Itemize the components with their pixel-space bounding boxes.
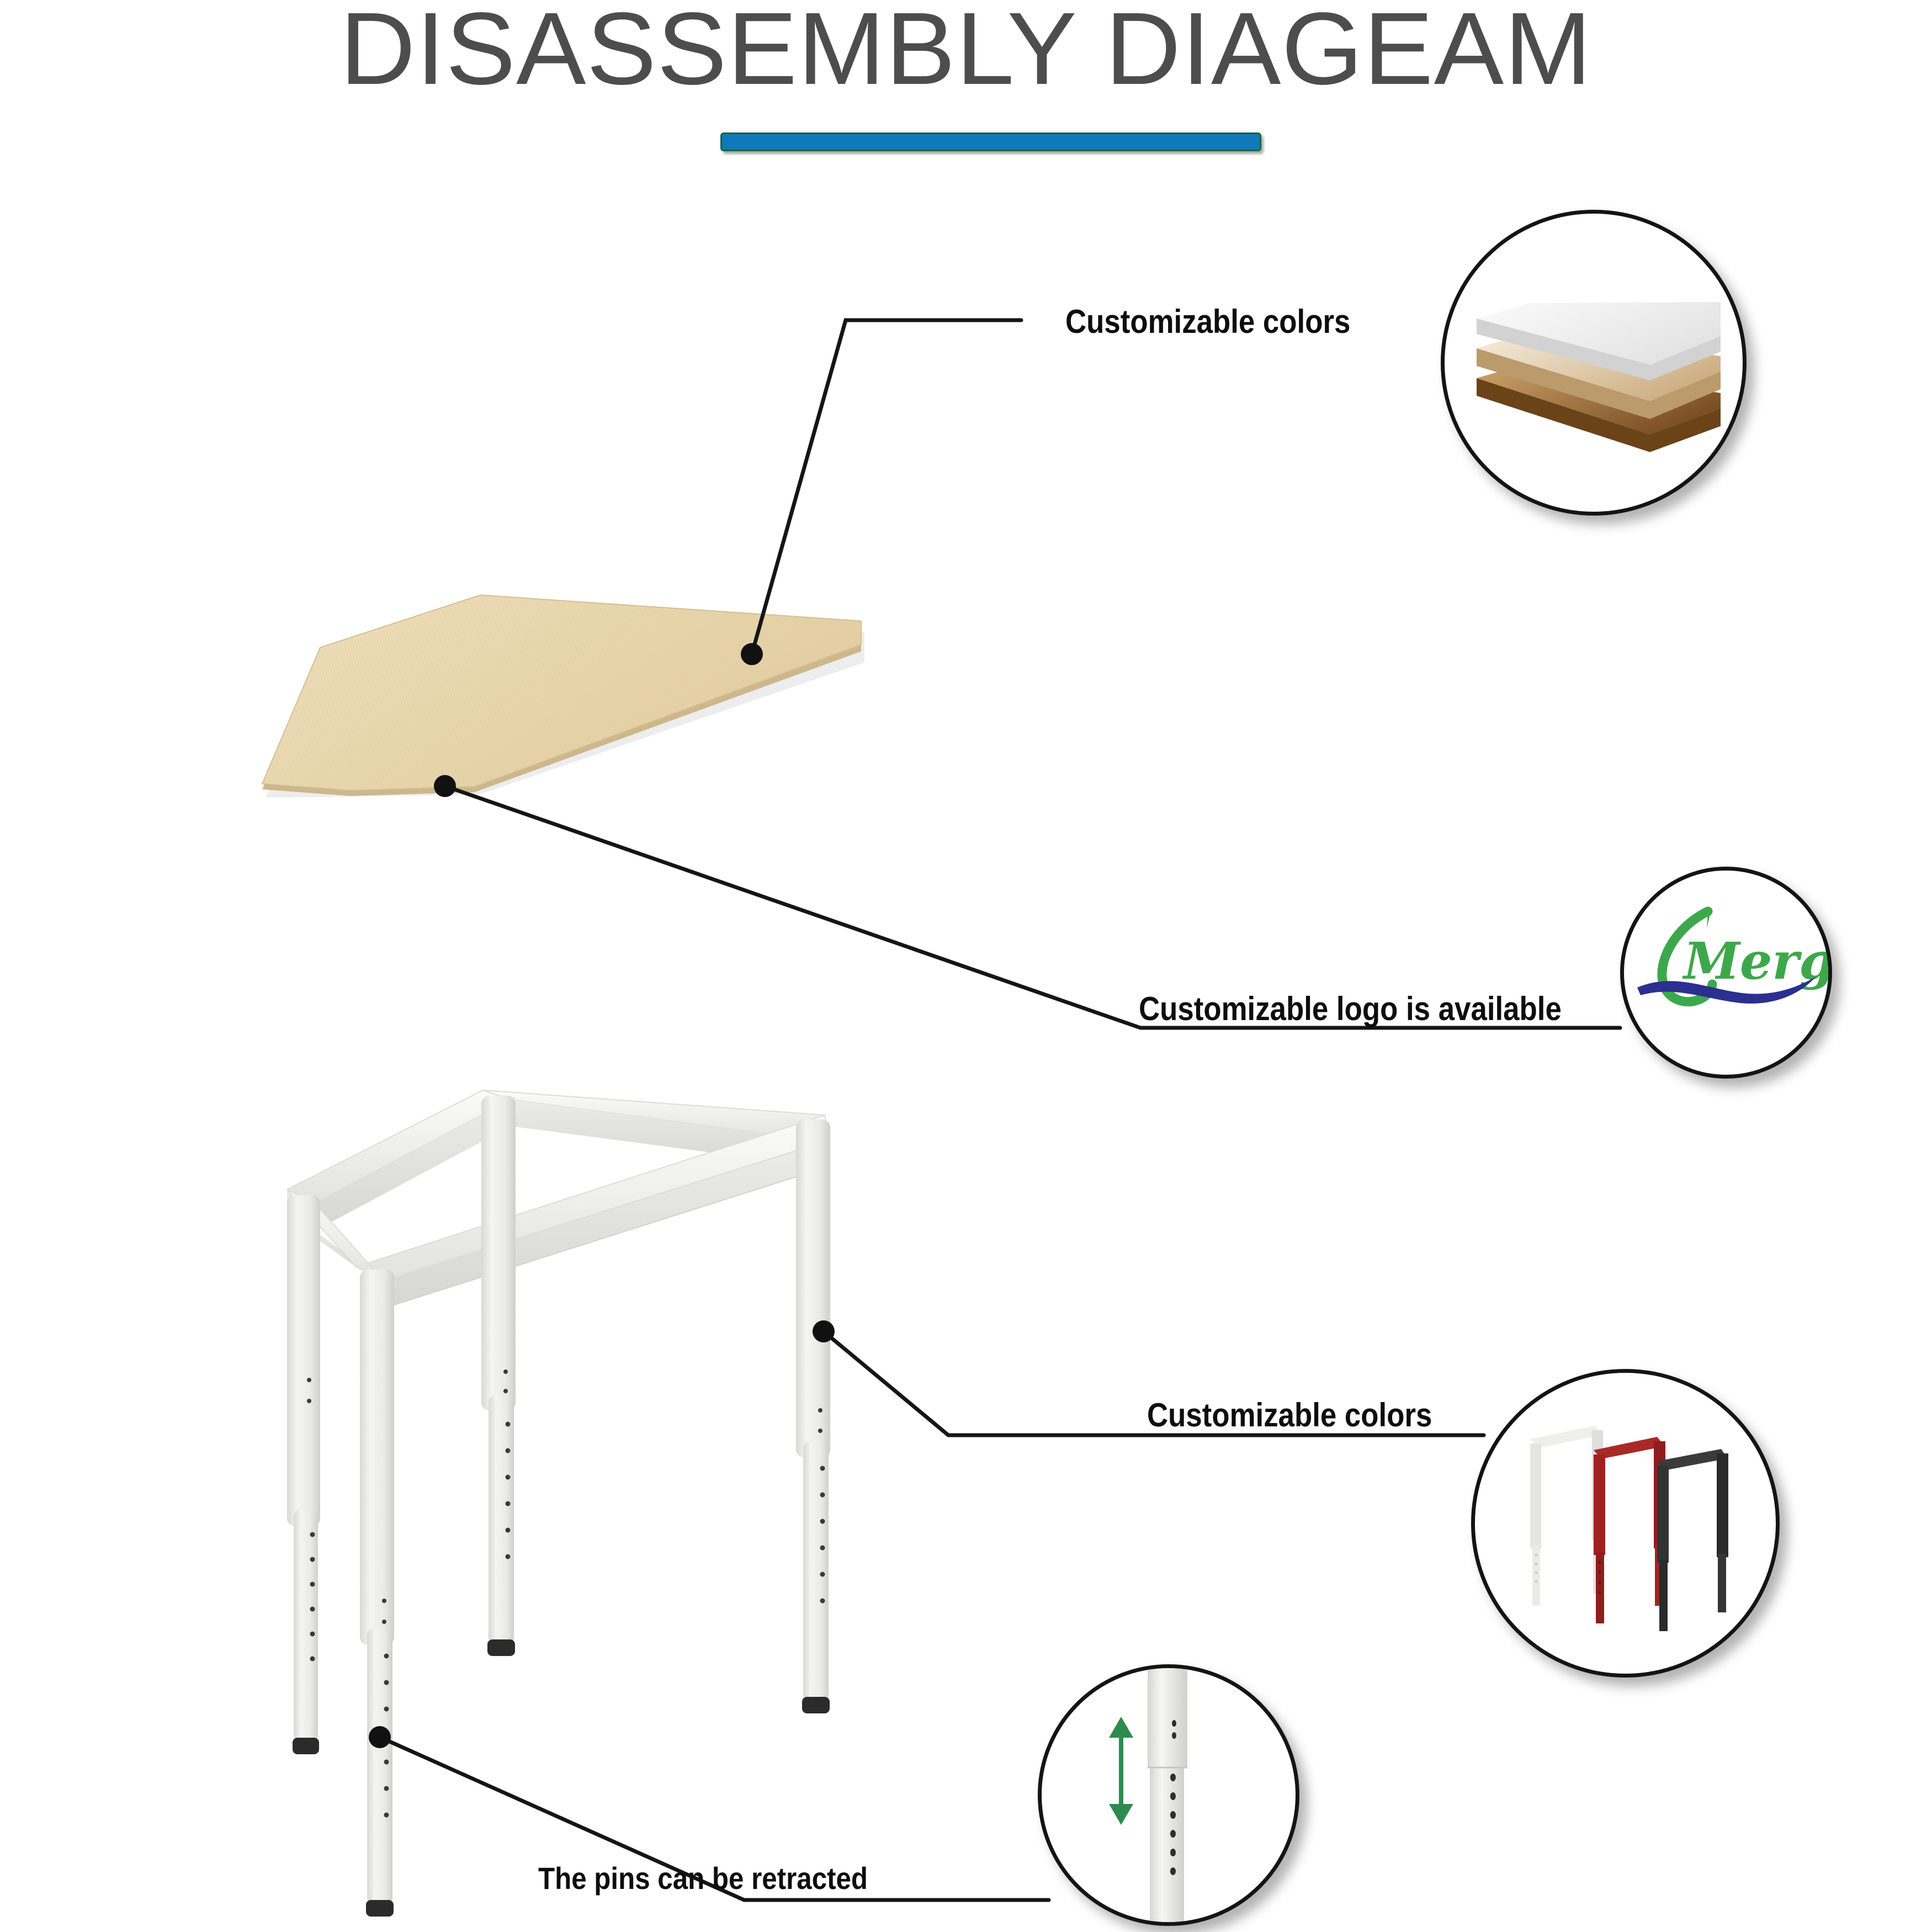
callout-label-pins: The pins can be retracted	[538, 1860, 868, 1896]
leg-frame-illustration	[232, 1049, 916, 1932]
title-accent-bar	[720, 132, 1261, 151]
leg-option-charcoal	[1657, 1449, 1728, 1631]
page-title: DISASSEMBLY DIAGEAM	[0, 0, 1932, 108]
callout-label-logo: Customizable logo is available	[1139, 990, 1562, 1028]
height-adjust-arrow	[1109, 1717, 1133, 1825]
callout-label-top-colors: Customizable colors	[1065, 302, 1350, 341]
inset-leg-colors	[1471, 1369, 1780, 1678]
desktop-illustration	[237, 569, 889, 828]
callout-label-leg-colors: Customizable colors	[1147, 1396, 1432, 1434]
inset-merge-logo: Merge	[1620, 867, 1832, 1079]
inset-pin-detail	[1038, 1664, 1299, 1926]
leg-option-red	[1594, 1437, 1665, 1623]
leg-option-white	[1530, 1426, 1603, 1606]
diagram-canvas: DISASSEMBLY DIAGEAM	[0, 0, 1932, 1932]
inset-tabletop-finishes	[1441, 210, 1747, 516]
